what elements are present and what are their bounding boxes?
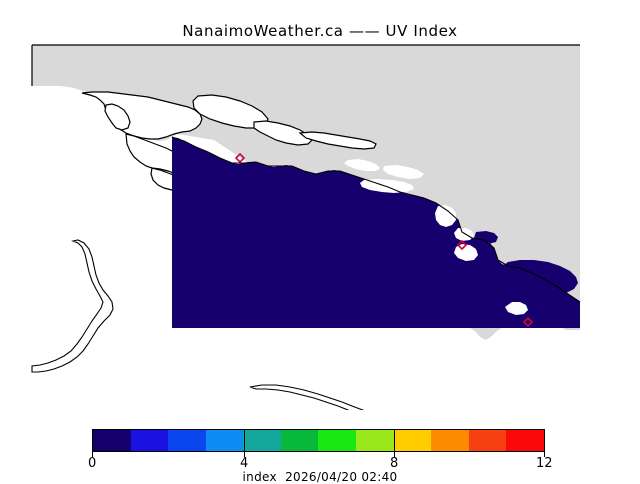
colorbar-segment-0 xyxy=(93,430,131,451)
colorbar-divider-4 xyxy=(244,429,245,452)
map-panel[interactable] xyxy=(0,40,640,410)
colorbar-label-12: 12 xyxy=(536,456,553,471)
uv-index-map-page: NanaimoWeather.ca —— UV Index xyxy=(0,0,640,480)
colorbar-segment-2 xyxy=(168,430,206,451)
colorbar-segment-9 xyxy=(431,430,469,451)
colorbar-swatches[interactable] xyxy=(92,429,545,452)
colorbar-segment-10 xyxy=(469,430,507,451)
colorbar-segment-3 xyxy=(206,430,244,451)
map-canvas[interactable] xyxy=(0,40,640,410)
colorbar-segment-6 xyxy=(318,430,356,451)
colorbar-label-8: 8 xyxy=(390,456,398,471)
colorbar-segment-1 xyxy=(131,430,169,451)
colorbar-segment-11 xyxy=(506,430,544,451)
colorbar-caption: index 2026/04/20 02:40 xyxy=(0,470,640,484)
colorbar-segment-4 xyxy=(243,430,281,451)
colorbar-segment-8 xyxy=(394,430,432,451)
colorbar-segment-7 xyxy=(356,430,394,451)
colorbar-divider-8 xyxy=(394,429,395,452)
page-title: NanaimoWeather.ca —— UV Index xyxy=(0,22,640,40)
colorbar-label-4: 4 xyxy=(240,456,248,471)
colorbar-legend[interactable]: 0 4 8 12 index 2026/04/20 02:40 xyxy=(0,418,640,480)
colorbar-segment-5 xyxy=(281,430,319,451)
colorbar-label-0: 0 xyxy=(88,456,96,471)
